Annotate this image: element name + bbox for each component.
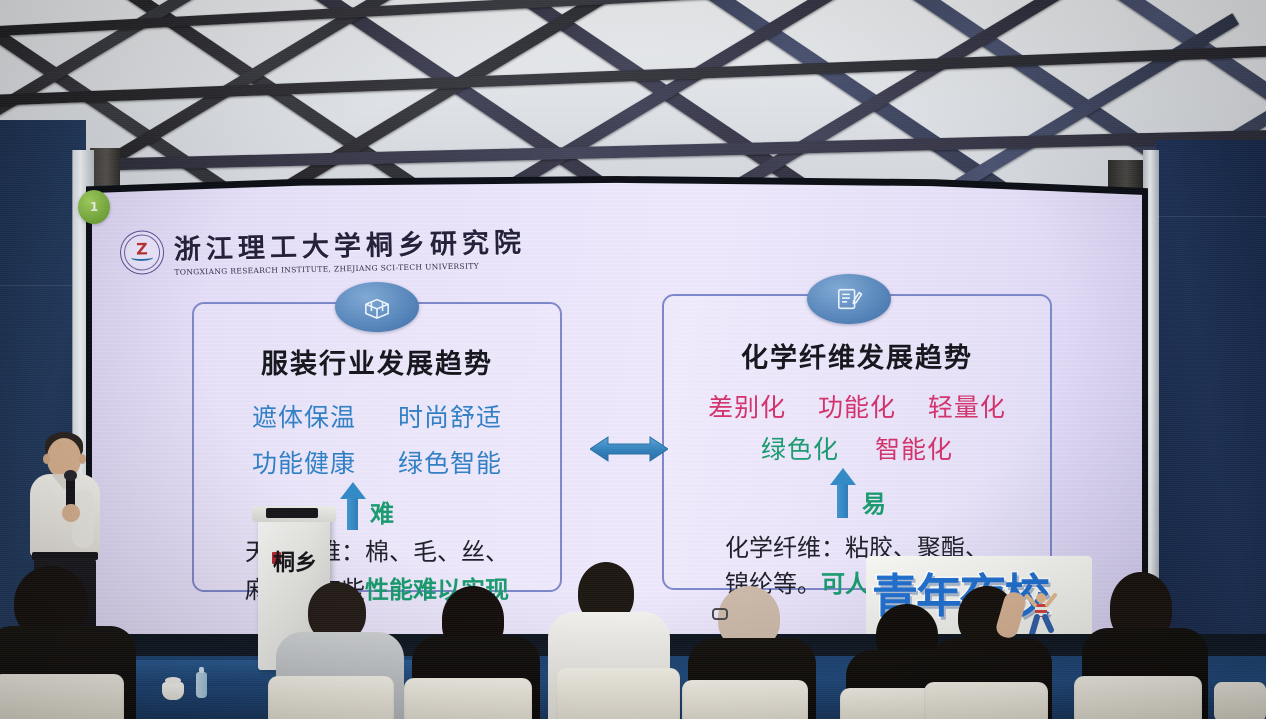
right-trend-2: 功能化: [818, 393, 896, 422]
audience-chair: [682, 680, 808, 719]
notepad-pen-icon: [807, 274, 891, 324]
left-note-line-1: 天然纤维：棉、毛、丝、: [194, 532, 560, 567]
conference-hall-photo: Z 浙江理工大学桐乡研究院 TONGXIANG RESEARCH INSTITU…: [0, 0, 1266, 719]
left-trend-3: 功能健康: [252, 449, 356, 478]
university-seal-icon: Z: [120, 230, 165, 275]
audience-chair: [404, 678, 532, 719]
water-bottle: [196, 672, 207, 698]
right-trend-5: 智能化: [875, 435, 953, 464]
left-trends-row-1: 遮体保温 时尚舒适: [194, 398, 560, 434]
bidirectional-arrow-icon: [590, 434, 668, 464]
left-note-line-2: 麻等。有些性能难以实现: [194, 570, 560, 605]
left-trend-1: 遮体保温: [252, 403, 356, 432]
audience-chair: [1074, 676, 1202, 719]
institute-name-cn: 浙江理工大学桐乡研究院: [174, 220, 527, 266]
audience-chair: [1214, 682, 1266, 719]
lattice-ceiling: [0, 0, 1266, 206]
left-trend-4: 绿色智能: [398, 449, 502, 478]
right-trend-3: 轻量化: [928, 393, 1006, 422]
left-trend-2: 时尚舒适: [398, 403, 502, 432]
right-panel: 化学纤维发展趋势 差别化 功能化 轻量化 绿色化 智能化 易: [662, 294, 1052, 590]
lectern-monitor: [266, 508, 318, 518]
right-trend-1: 差别化: [708, 393, 786, 422]
right-wall-panel: [1156, 140, 1266, 700]
eyeglasses-icon: [712, 608, 728, 620]
audience-chair: [268, 676, 394, 719]
left-arrow-label: 难: [370, 494, 394, 529]
right-panel-title: 化学纤维发展趋势: [664, 336, 1050, 375]
audience-chair: [0, 674, 124, 719]
right-arrow-label: 易: [862, 484, 886, 519]
right-trend-4: 绿色化: [761, 435, 839, 464]
left-trends-row-2: 功能健康 绿色智能: [194, 444, 560, 480]
left-panel: 服装行业发展趋势 遮体保温 时尚舒适 功能健康 绿色智能 难 天然: [192, 302, 562, 592]
audience-chair: [556, 668, 680, 719]
institute-header: Z 浙江理工大学桐乡研究院 TONGXIANG RESEARCH INSTITU…: [119, 211, 590, 285]
right-trends-row-2: 绿色化 智能化: [664, 430, 1050, 466]
open-box-icon: [335, 282, 419, 332]
right-trends-row-1: 差别化 功能化 轻量化: [664, 388, 1050, 424]
lectern-brand-cn: 桐乡: [268, 553, 322, 574]
tea-cup: [162, 682, 184, 700]
left-panel-title: 服装行业发展趋势: [194, 342, 560, 381]
audience-chair: [924, 682, 1048, 719]
slide-number-badge: 1: [78, 190, 110, 224]
